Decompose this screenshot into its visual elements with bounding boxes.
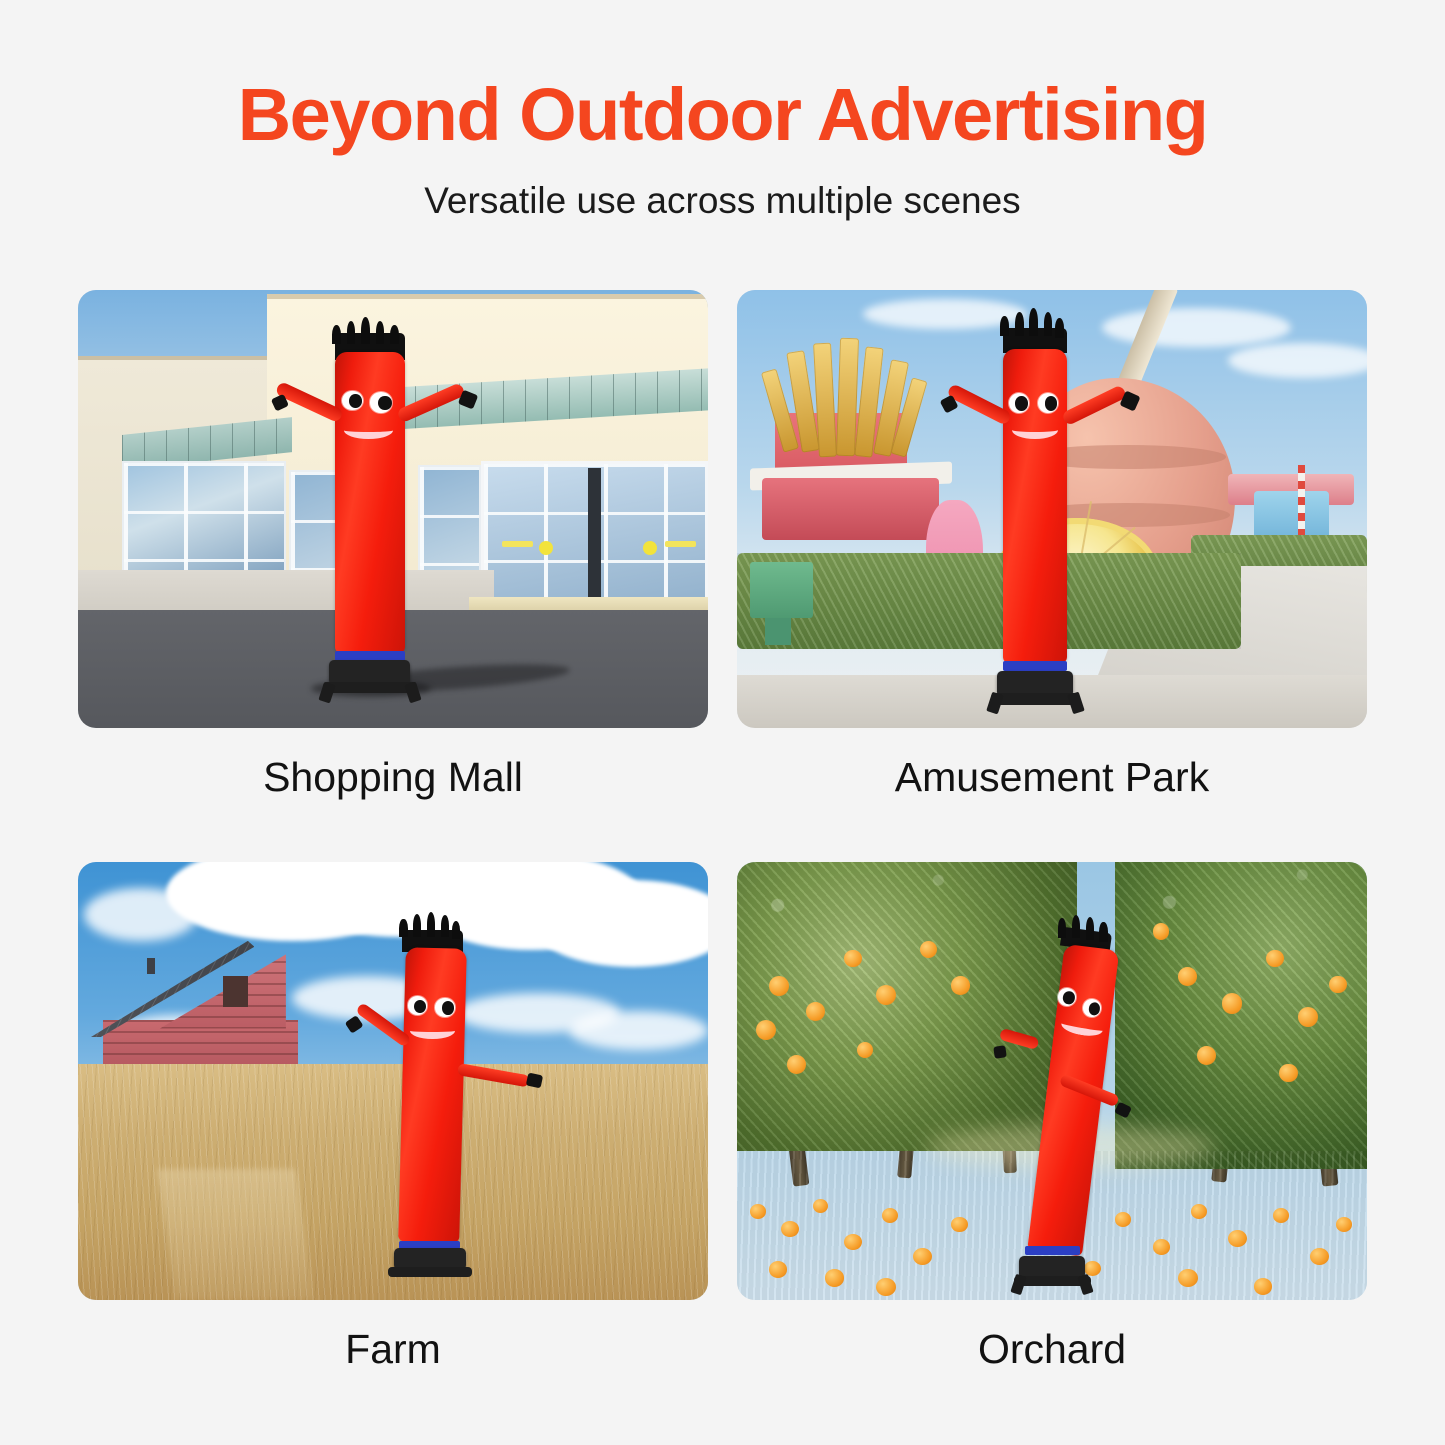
scene-image-shopping-mall[interactable]	[78, 290, 708, 728]
gallery-card-orchard[interactable]: Orchard	[737, 862, 1367, 1372]
left-hand	[344, 1016, 362, 1034]
trash-bin	[750, 562, 813, 619]
right-eye	[370, 392, 392, 412]
right-eye	[435, 998, 454, 1016]
hair-spike	[376, 321, 385, 344]
barn-chimney	[147, 958, 155, 973]
blower-leg	[1067, 692, 1084, 715]
fallen-orange	[844, 1234, 862, 1250]
gallery-card-farm[interactable]: Farm	[78, 862, 708, 1372]
orange-on-tree	[876, 985, 896, 1005]
page-subtitle: Versatile use across multiple scenes	[0, 180, 1445, 222]
blue-cuff	[1025, 1246, 1080, 1255]
page-title: Beyond Outdoor Advertising	[0, 78, 1445, 152]
inflatable-tube-man	[248, 325, 538, 710]
shopping-mall-scene	[78, 290, 708, 728]
blower-leg	[986, 692, 1003, 715]
fallen-orange	[750, 1204, 766, 1219]
left-pupil	[1062, 991, 1075, 1005]
gallery-card-shopping-mall[interactable]: Shopping Mall	[78, 290, 708, 800]
smile	[410, 1022, 454, 1039]
scene-image-amusement-park[interactable]	[737, 290, 1367, 728]
hair-spike	[1000, 316, 1009, 336]
card-caption-shopping-mall: Shopping Mall	[78, 755, 708, 800]
hair-spike	[452, 921, 460, 939]
blue-cuff	[335, 651, 405, 661]
barn-window	[223, 976, 248, 1007]
blower-leg	[1077, 1274, 1093, 1296]
fallen-orange	[1310, 1248, 1329, 1265]
fallen-orange	[769, 1261, 788, 1278]
cloud	[84, 888, 197, 941]
left-pupil	[414, 1000, 426, 1013]
left-arm	[999, 1028, 1040, 1051]
blower-leg	[405, 682, 422, 704]
scene-gallery: Shopping Mall	[78, 290, 1367, 1372]
left-pupil	[349, 394, 362, 407]
blower-unit	[329, 660, 410, 685]
inflatable-tube-man	[939, 915, 1216, 1300]
farm-scene	[78, 862, 708, 1300]
hair-spike	[332, 325, 341, 344]
blower-leg	[318, 682, 335, 704]
hair-spike	[1072, 915, 1080, 938]
body-tube	[398, 948, 467, 1244]
smile	[344, 421, 393, 438]
scene-image-farm[interactable]	[78, 862, 708, 1300]
hair-spike	[399, 919, 407, 937]
right-pupil	[378, 396, 391, 410]
page-header: Beyond Outdoor Advertising Versatile use…	[0, 0, 1445, 222]
hair-spike	[1099, 922, 1107, 941]
left-eye	[408, 996, 427, 1014]
right-arm	[396, 382, 465, 423]
hair-spike	[361, 317, 370, 344]
orange-on-tree	[1298, 1007, 1318, 1027]
blower-unit	[1019, 1256, 1086, 1279]
cloud	[1228, 343, 1367, 378]
hair-spike	[347, 321, 356, 344]
fallen-orange	[1336, 1217, 1352, 1232]
hair-spike	[441, 915, 449, 937]
fallen-orange	[876, 1278, 896, 1296]
orange-on-tree	[1266, 950, 1284, 968]
right-arm	[1061, 384, 1127, 426]
orange-on-tree	[756, 1020, 776, 1040]
amusement-park-scene	[737, 290, 1367, 728]
fallen-orange	[813, 1199, 828, 1213]
hair-spike	[1044, 312, 1053, 336]
left-eye	[342, 391, 362, 410]
blue-cuff	[1003, 661, 1067, 671]
card-caption-orchard: Orchard	[737, 1327, 1367, 1372]
hair-spike	[427, 912, 435, 938]
hair-spike	[390, 325, 399, 344]
right-eye	[1038, 393, 1058, 413]
hair-spike	[1015, 312, 1024, 336]
orange-on-tree	[1279, 1064, 1298, 1083]
right-hand	[526, 1072, 544, 1087]
right-pupil	[1045, 396, 1058, 411]
orange-on-tree	[787, 1055, 806, 1074]
fallen-orange	[781, 1221, 799, 1237]
blower-unit	[394, 1248, 466, 1270]
blower-unit	[997, 671, 1072, 697]
orange-on-tree	[769, 976, 789, 996]
left-hand	[993, 1045, 1007, 1058]
right-pupil	[442, 1001, 454, 1014]
fallen-orange	[1273, 1208, 1289, 1223]
trash-bin-leg	[765, 614, 790, 645]
hair-spike	[1086, 917, 1094, 940]
field-path	[157, 1169, 314, 1300]
orange-on-tree	[1222, 993, 1242, 1013]
scene-image-orchard[interactable]	[737, 862, 1367, 1300]
card-caption-amusement-park: Amusement Park	[737, 755, 1367, 800]
hair-spike	[1055, 318, 1064, 338]
orange-on-tree	[844, 950, 862, 968]
inflatable-tube-man	[330, 919, 607, 1287]
left-arm	[355, 1002, 411, 1047]
hair-spike	[1058, 918, 1066, 937]
right-arm	[456, 1063, 529, 1087]
card-caption-farm: Farm	[78, 1327, 708, 1372]
hair-spike	[1029, 308, 1038, 336]
inflatable-tube-man	[913, 316, 1203, 719]
door-center-post	[588, 468, 601, 598]
orchard-scene	[737, 862, 1367, 1300]
gallery-card-amusement-park[interactable]: Amusement Park	[737, 290, 1367, 800]
fallen-orange	[825, 1269, 844, 1286]
door-sticker	[665, 541, 696, 547]
left-pupil	[1015, 396, 1028, 411]
fallen-orange	[913, 1248, 932, 1265]
snack-building	[762, 478, 938, 539]
